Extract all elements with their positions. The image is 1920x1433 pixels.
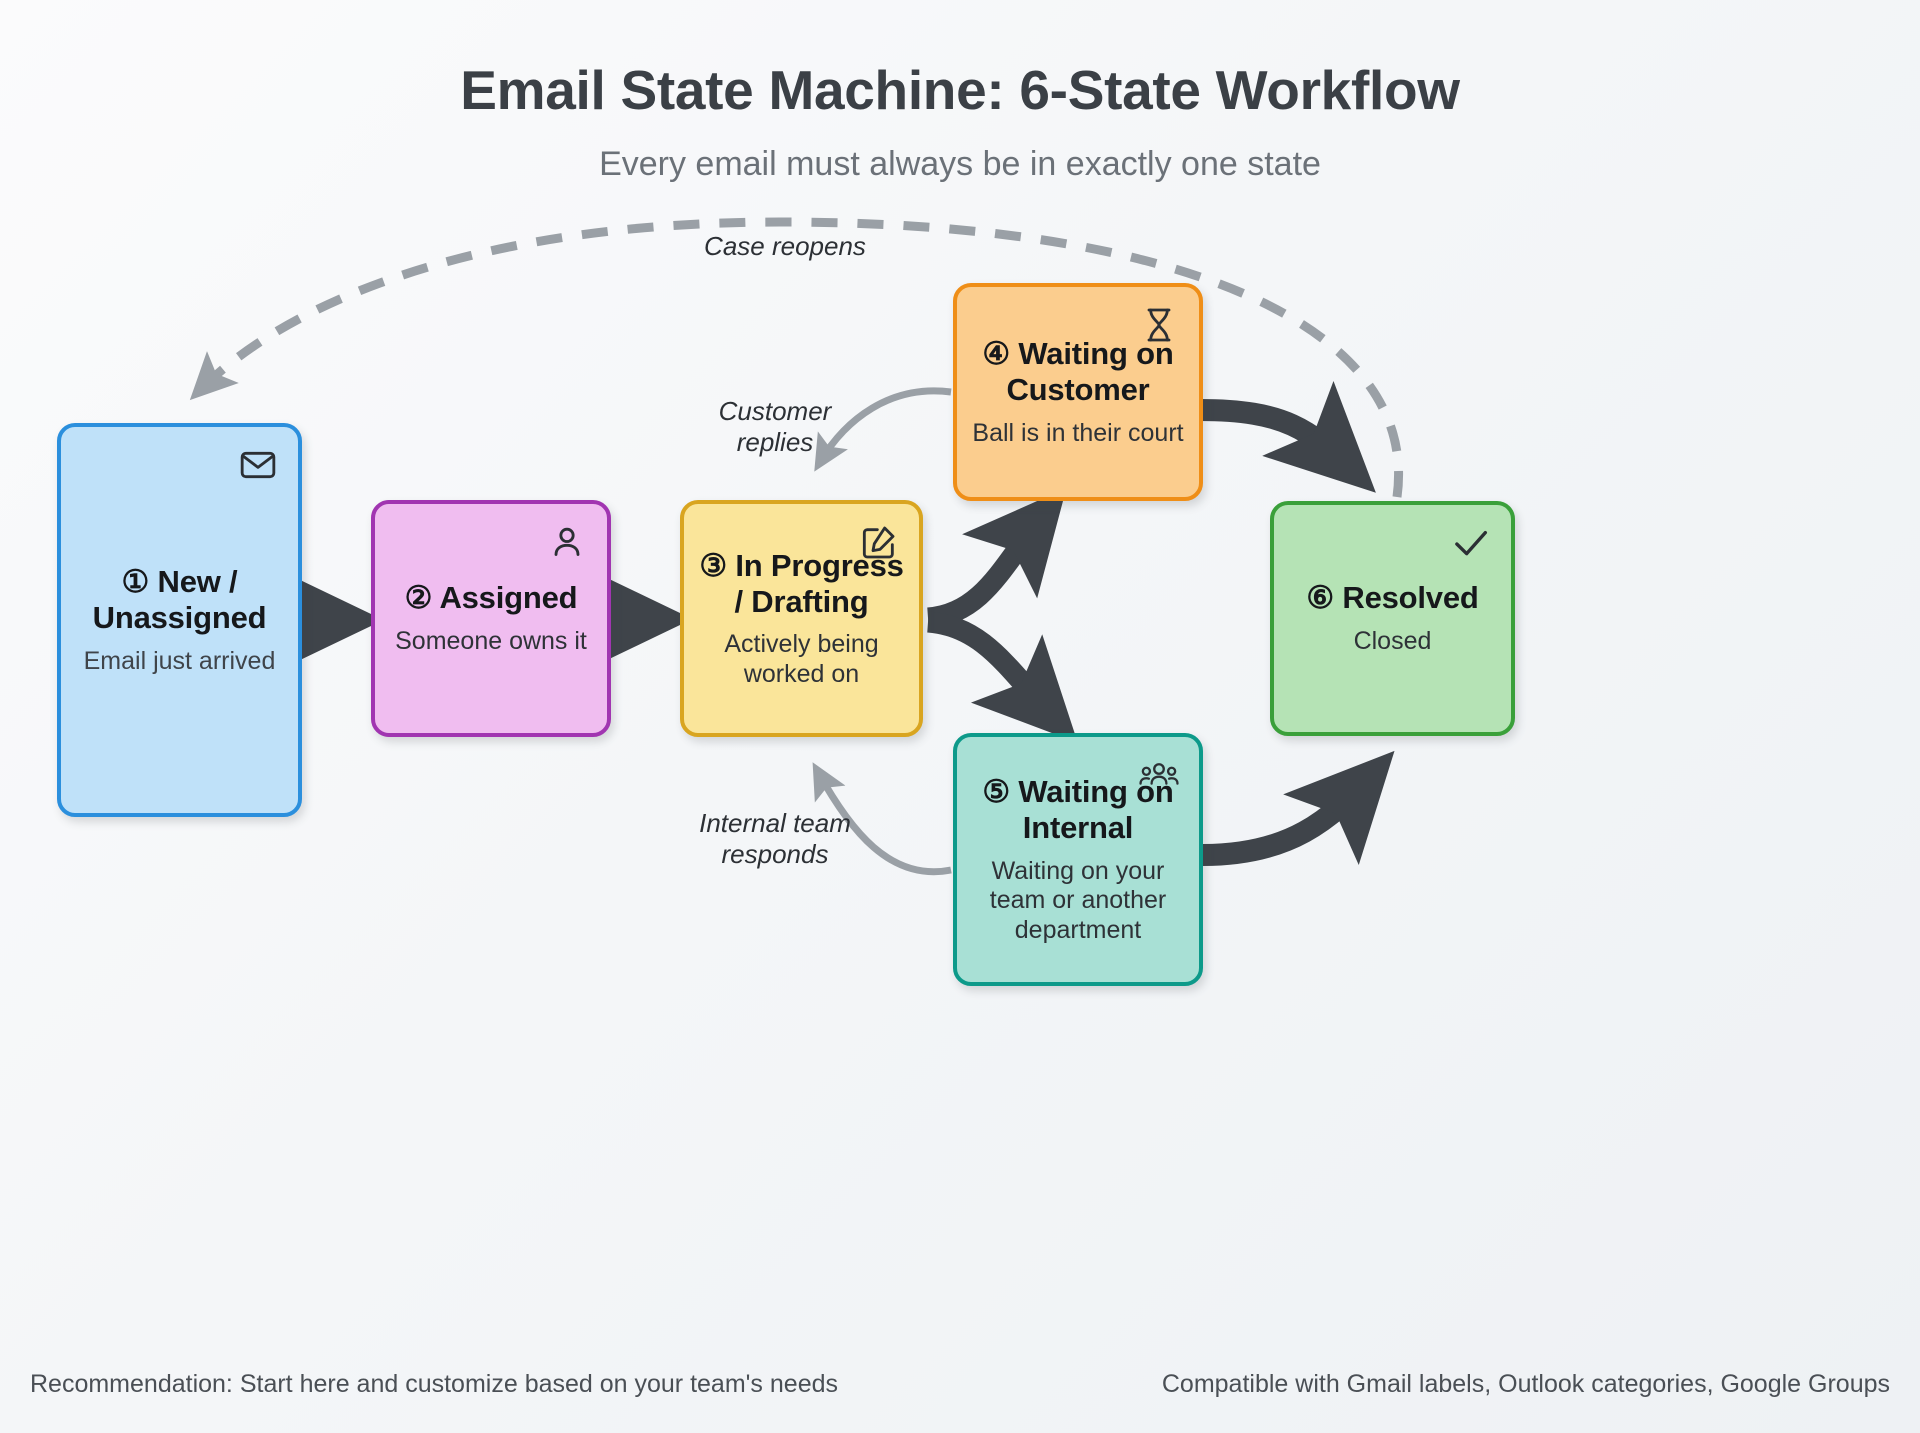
footer-compatibility: Compatible with Gmail labels, Outlook ca…: [1162, 1370, 1890, 1399]
footer-recommendation: Recommendation: Start here and customize…: [30, 1370, 838, 1399]
edge-waiting-customer-to-resolved: [1200, 410, 1352, 470]
edge-label-customer-replies: Customerreplies: [655, 396, 895, 457]
state-subtitle: Someone owns it: [395, 627, 587, 657]
state-node-resolved[interactable]: ⑥ Resolved Closed: [1270, 501, 1515, 736]
page-subtitle: Every email must always be in exactly on…: [0, 145, 1920, 184]
state-subtitle: Actively beingworked on: [724, 630, 878, 689]
state-title: ① New /Unassigned: [93, 564, 267, 636]
diagram-canvas: Email State Machine: 6-State Workflow Ev…: [0, 0, 1920, 1433]
people-group-icon: [1139, 755, 1179, 795]
state-node-assigned[interactable]: ② Assigned Someone owns it: [371, 500, 611, 737]
state-node-new-unassigned[interactable]: ① New /Unassigned Email just arrived: [57, 423, 302, 817]
state-node-waiting-on-internal[interactable]: ⑤ Waiting onInternal Waiting on yourteam…: [953, 733, 1203, 986]
edge-waiting-internal-to-resolved: [1203, 775, 1372, 855]
state-subtitle: Ball is in their court: [972, 419, 1183, 449]
page-title: Email State Machine: 6-State Workflow: [0, 58, 1920, 122]
edge-progress-to-waiting-customer: [928, 512, 1046, 618]
state-subtitle: Closed: [1354, 627, 1432, 657]
envelope-icon: [238, 445, 278, 485]
state-subtitle: Waiting on yourteam or anotherdepartment: [990, 857, 1167, 946]
checkmark-icon: [1451, 523, 1491, 563]
state-node-waiting-on-customer[interactable]: ④ Waiting onCustomer Ball is in their co…: [953, 283, 1203, 501]
state-subtitle: Email just arrived: [84, 647, 276, 677]
hourglass-icon: [1139, 305, 1179, 345]
person-icon: [547, 522, 587, 562]
state-node-in-progress-drafting[interactable]: ③ In Progress/ Drafting Actively beingwo…: [680, 500, 923, 737]
pencil-edit-icon: [859, 522, 899, 562]
state-title: ⑥ Resolved: [1306, 580, 1478, 616]
edge-label-case-reopens: Case reopens: [655, 231, 915, 262]
state-title: ② Assigned: [405, 580, 578, 616]
state-title: ④ Waiting onCustomer: [982, 336, 1173, 408]
edge-progress-to-waiting-internal: [928, 622, 1056, 720]
edge-label-internal-responds: Internal teamresponds: [640, 808, 910, 869]
